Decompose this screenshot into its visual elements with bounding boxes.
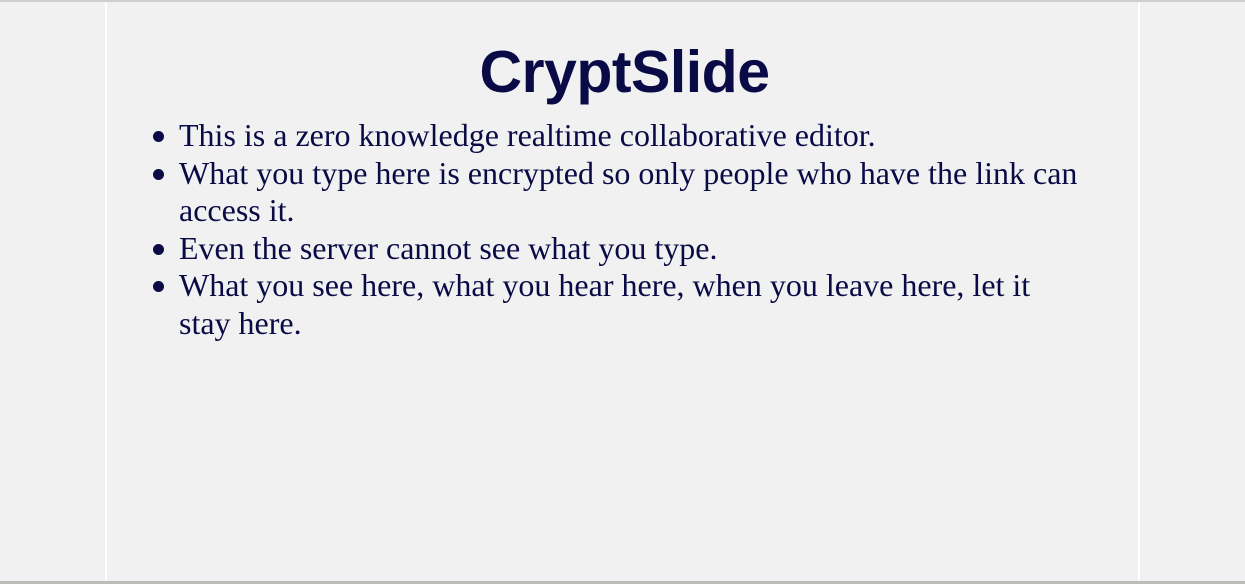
bullet-item[interactable]: What you see here, what you hear here, w… (107, 267, 1080, 342)
bullet-item-label: Even the server cannot see what you type… (179, 230, 1080, 268)
bullet-item[interactable]: What you type here is encrypted so only … (107, 155, 1080, 230)
bullet-item-label: This is a zero knowledge realtime collab… (179, 117, 1080, 155)
bullet-item-label: What you see here, what you hear here, w… (179, 267, 1080, 342)
slide-canvas[interactable]: CryptSlide This is a zero knowledge real… (105, 2, 1140, 581)
slide-title[interactable]: CryptSlide (107, 40, 1142, 104)
bullet-list: This is a zero knowledge realtime collab… (107, 117, 1142, 342)
bullet-point-icon (153, 281, 164, 292)
slide-viewer: CryptSlide This is a zero knowledge real… (0, 0, 1245, 584)
bullet-point-icon (153, 169, 164, 180)
bullet-item[interactable]: Even the server cannot see what you type… (107, 230, 1080, 268)
bullet-point-icon (153, 131, 164, 142)
slide-body[interactable]: This is a zero knowledge realtime collab… (107, 117, 1142, 342)
bullet-item[interactable]: This is a zero knowledge realtime collab… (107, 117, 1080, 155)
bullet-point-icon (153, 244, 164, 255)
bullet-item-label: What you type here is encrypted so only … (179, 155, 1080, 230)
